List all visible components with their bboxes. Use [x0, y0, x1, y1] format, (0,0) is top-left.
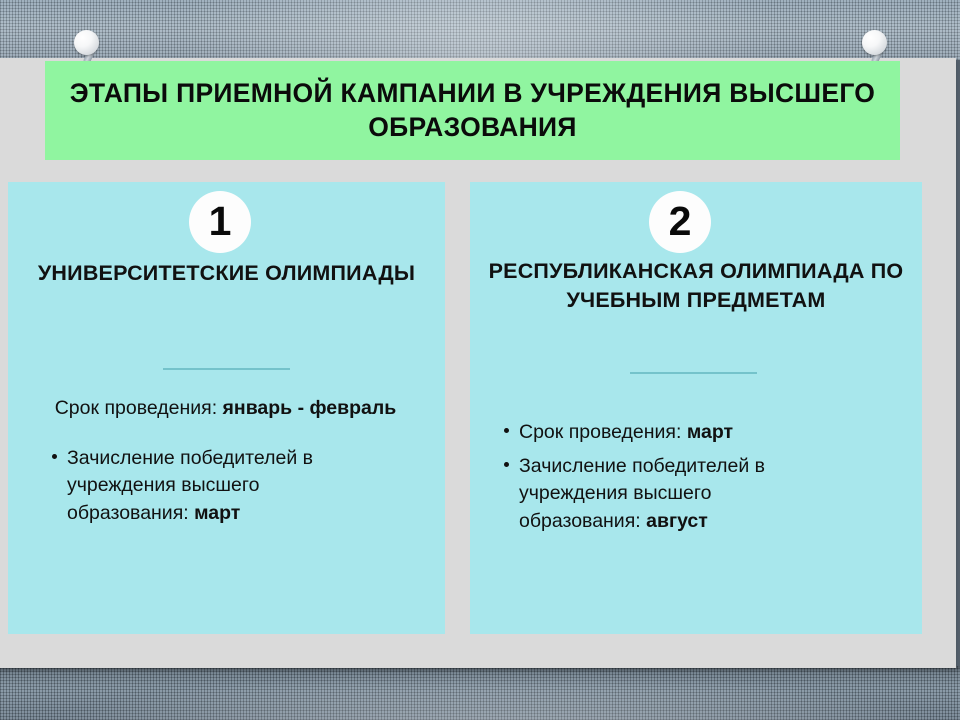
bullet-dot-icon	[52, 454, 57, 459]
stage-lead-label: Срок проведения:	[55, 397, 217, 419]
pushpin-head	[74, 30, 99, 55]
bullet-label: Срок проведения:	[519, 421, 681, 443]
bullet-label: Зачисление победителей в учреждения высш…	[519, 455, 765, 532]
bullet-dot-icon	[504, 428, 509, 433]
fabric-background-top	[0, 0, 960, 60]
stage-number: 2	[669, 201, 692, 242]
stage-body: Срок проведения: январь - февраль Зачисл…	[8, 395, 445, 534]
stage-number-badge: 2	[649, 191, 711, 253]
slide-canvas: ЭТАПЫ ПРИЕМНОЙ КАМПАНИИ В УЧРЕЖДЕНИЯ ВЫС…	[0, 0, 960, 720]
stage-lead-value: январь - февраль	[223, 397, 397, 419]
pushpin-icon-left	[74, 30, 108, 64]
stage-lead-line: Срок проведения: январь - февраль	[24, 395, 427, 423]
heading-divider	[630, 372, 757, 374]
stage-card-1: 1 УНИВЕРСИТЕТСКИЕ ОЛИМПИАДЫ Срок проведе…	[8, 182, 445, 634]
stage-bullet-list: Зачисление победителей в учреждения высш…	[24, 445, 427, 528]
stage-card-2: 2 РЕСПУБЛИКАНСКАЯ ОЛИМПИАДА ПО УЧЕБНЫМ П…	[470, 182, 922, 634]
heading-divider	[163, 368, 290, 370]
bullet-value: март	[687, 421, 733, 443]
title-banner: ЭТАПЫ ПРИЕМНОЙ КАМПАНИИ В УЧРЕЖДЕНИЯ ВЫС…	[45, 61, 900, 160]
stage-number: 1	[209, 201, 232, 242]
bullet-dot-icon	[504, 462, 509, 467]
list-item: Зачисление победителей в учреждения высш…	[502, 453, 826, 536]
stage-heading: УНИВЕРСИТЕТСКИЕ ОЛИМПИАДЫ	[8, 259, 445, 288]
page-title: ЭТАПЫ ПРИЕМНОЙ КАМПАНИИ В УЧРЕЖДЕНИЯ ВЫС…	[63, 77, 882, 144]
bullet-value: март	[194, 502, 240, 524]
pushpin-icon-right	[862, 30, 896, 64]
pushpin-head	[862, 30, 887, 55]
list-item: Зачисление победителей в учреждения высш…	[50, 445, 381, 528]
bullet-value: август	[646, 510, 708, 532]
stage-bullet-list: Срок проведения: март Зачисление победит…	[494, 419, 896, 536]
fabric-background-bottom	[0, 666, 960, 720]
stage-number-badge: 1	[189, 191, 251, 253]
stage-body: Срок проведения: март Зачисление победит…	[470, 419, 922, 542]
bullet-label: Зачисление победителей в учреждения высш…	[67, 447, 313, 524]
list-item: Срок проведения: март	[502, 419, 826, 447]
stage-heading: РЕСПУБЛИКАНСКАЯ ОЛИМПИАДА ПО УЧЕБНЫМ ПРЕ…	[470, 257, 922, 314]
